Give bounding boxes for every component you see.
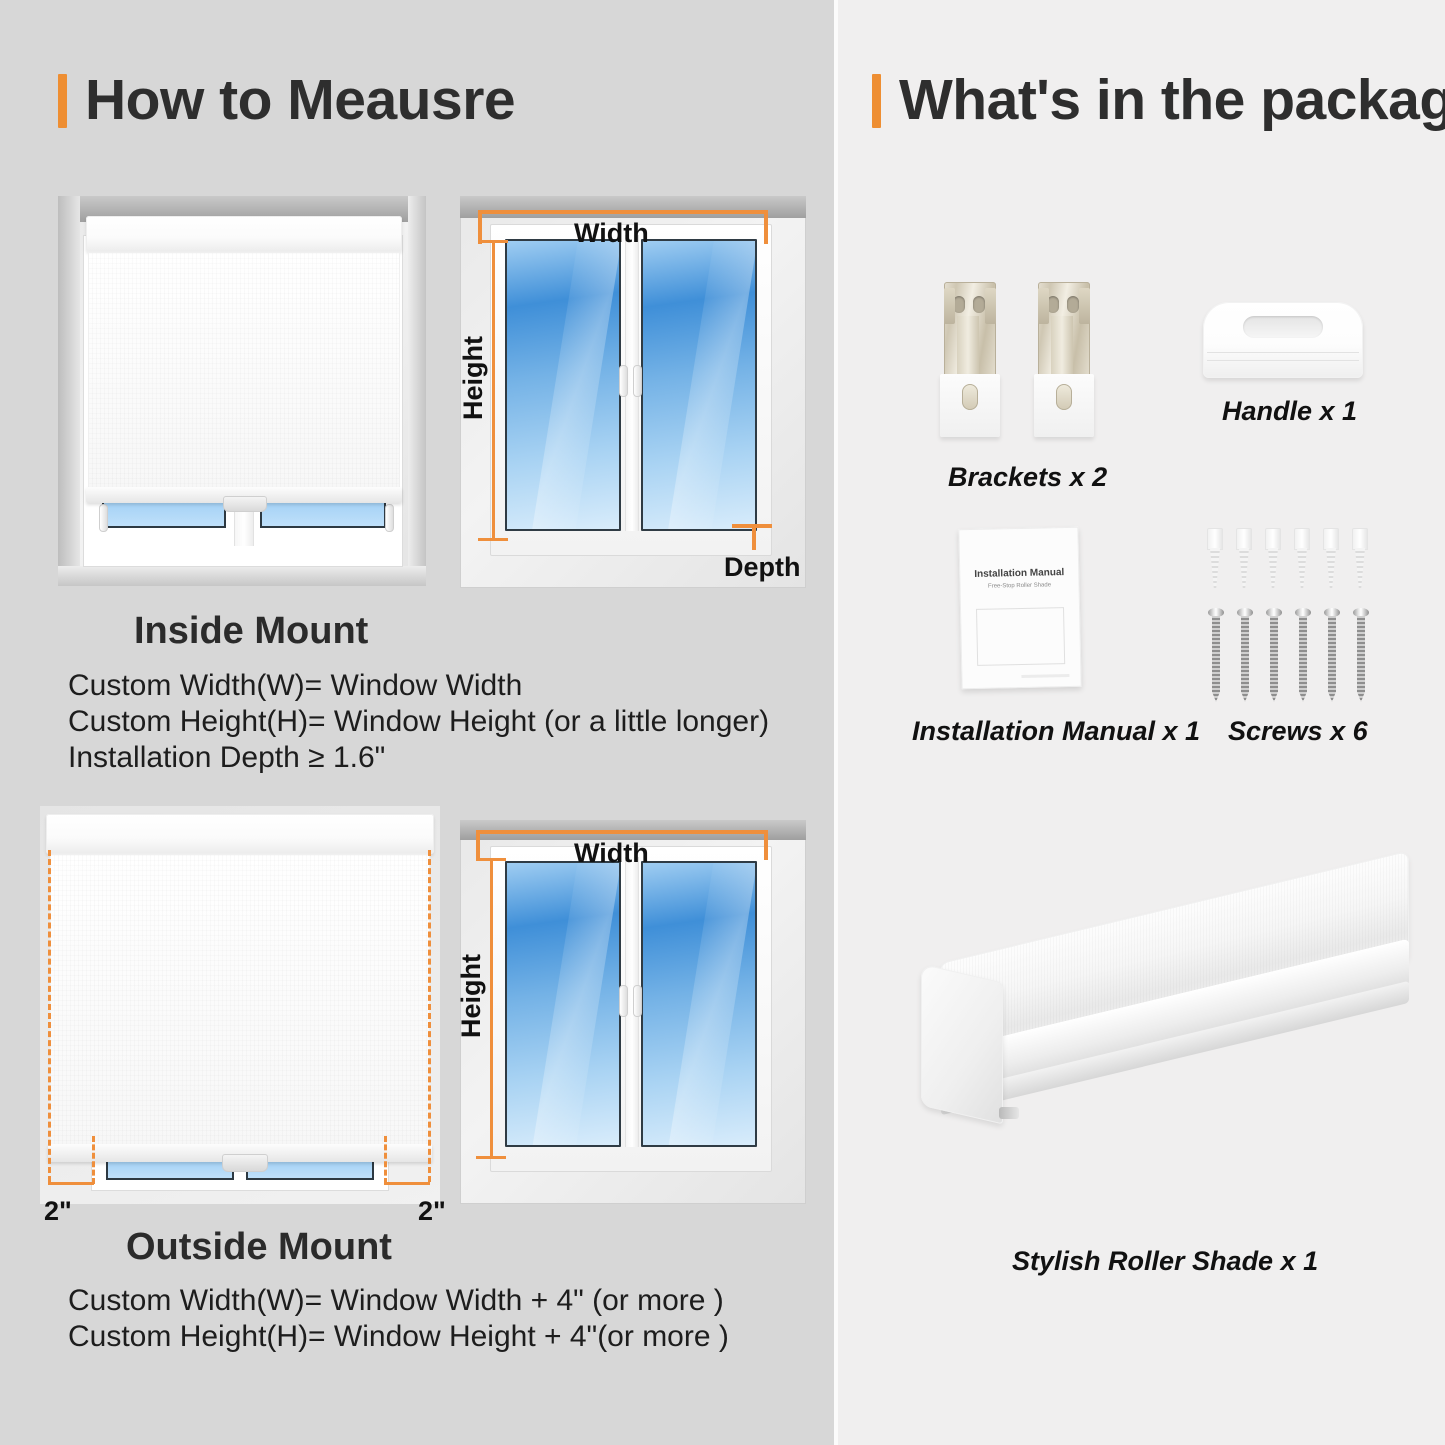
handle-icon: [1203, 302, 1363, 378]
depth-label: Depth: [724, 552, 801, 583]
screw-shaft-5: [1328, 616, 1336, 702]
screw-shaft-3: [1270, 616, 1278, 702]
outside-measure-handle-left: [619, 985, 628, 1017]
outside-shade-fabric: [50, 854, 430, 1146]
mark-height-line: [492, 240, 495, 540]
roller-shade-end-cap: [921, 964, 1003, 1125]
overhang-dash-right: [428, 850, 431, 1182]
anchor-icon-2: [1235, 528, 1253, 588]
screw-icon-2: [1237, 608, 1253, 702]
anchor-icon-1: [1206, 528, 1224, 588]
anchor-icon-6: [1351, 528, 1369, 588]
window-handle-left: [99, 504, 108, 532]
infographic-page: How to Meausre: [0, 0, 1445, 1445]
manual-cover-illustration: [976, 607, 1065, 666]
how-to-measure-heading: How to Meausre: [58, 72, 515, 129]
outside-height-label: Height: [456, 954, 487, 1038]
mark-height-top-tick: [478, 240, 508, 243]
manual-icon: Installation Manual Free-Stop Roller Sha…: [958, 527, 1081, 689]
outside-shade-pull-tab: [222, 1154, 268, 1172]
bracket-tab-right-2: [1079, 288, 1090, 324]
anchor-head-3: [1265, 528, 1281, 550]
shade-pull-tab: [223, 496, 267, 512]
manual-label: Installation Manual x 1: [912, 716, 1200, 747]
screw-shaft-1: [1212, 616, 1220, 702]
overhang-dash-left: [48, 850, 51, 1182]
outside-mount-shade-illustration: [40, 806, 440, 1204]
manual-cover-footer: [1021, 674, 1069, 678]
outside-mark-top-right-vert: [764, 830, 768, 860]
manual-cover-subtitle: Free-Stop Roller Shade: [959, 582, 1079, 591]
shade-headrail: [86, 216, 402, 252]
recess-left-edge: [58, 196, 80, 586]
bracket-mounting-plate: [940, 374, 1000, 437]
anchor-icon-3: [1264, 528, 1282, 588]
overhang-label-right: 2": [418, 1196, 446, 1227]
outside-mount-measure-diagram: Width Height: [460, 820, 806, 1204]
anchor-head-6: [1352, 528, 1368, 550]
bracket-icon: [940, 282, 1000, 437]
roller-shade-icon: [915, 885, 1427, 1215]
shade-fabric: [88, 252, 400, 489]
screw-head-6: [1353, 608, 1369, 617]
roller-shade-label: Stylish Roller Shade x 1: [1012, 1246, 1318, 1277]
handle-slot: [1243, 316, 1323, 338]
inside-mount-measure-diagram: Width Height Depth: [460, 196, 806, 588]
screw-head-5: [1324, 608, 1340, 617]
recess-bottom-edge: [58, 566, 426, 586]
anchor-head-5: [1323, 528, 1339, 550]
measure-recess-top: [460, 196, 806, 218]
bracket-stem: [957, 316, 979, 378]
mark-depth-vert: [752, 524, 756, 550]
wall-anchors-group: [1206, 528, 1376, 592]
outside-shade-headrail: [46, 814, 434, 854]
outside-mount-line-1: Custom Width(W)= Window Width + 4" (or m…: [68, 1284, 724, 1318]
screw-shaft-6: [1357, 616, 1365, 702]
accent-bar-icon: [58, 74, 67, 128]
inside-mount-line-3: Installation Depth ≥ 1.6": [68, 741, 385, 775]
inside-mount-title: Inside Mount: [134, 610, 368, 653]
screws-group: [1208, 608, 1378, 704]
window-edge-dash-left: [92, 1136, 95, 1184]
outside-mark-height-top-tick: [476, 858, 506, 861]
roller-shade-pin: [999, 1107, 1019, 1119]
anchor-icon-5: [1322, 528, 1340, 588]
mark-top-left-vert: [478, 210, 482, 244]
overhang-label-left: 2": [44, 1196, 72, 1227]
screw-head-3: [1266, 608, 1282, 617]
screw-head-2: [1237, 608, 1253, 617]
outside-mount-line-2: Custom Height(H)= Window Height + 4"(or …: [68, 1320, 729, 1354]
anchor-head-4: [1294, 528, 1310, 550]
recess-right-edge: [408, 196, 426, 586]
package-title: What's in the package: [899, 72, 1445, 129]
outside-measure-pane-left: [505, 861, 621, 1147]
screws-label: Screws x 6: [1228, 716, 1368, 747]
mark-height-bottom-tick: [478, 538, 508, 541]
outside-measure-window-frame: [490, 846, 772, 1172]
screw-head-1: [1208, 608, 1224, 617]
outside-mark-height-bottom-tick: [476, 1156, 506, 1159]
height-label: Height: [458, 336, 489, 420]
outside-mount-title: Outside Mount: [126, 1226, 392, 1269]
bracket-mounting-plate-2: [1034, 374, 1094, 437]
screw-shaft-2: [1241, 616, 1249, 702]
mark-top-horizontal: [478, 210, 768, 214]
screw-icon-6: [1353, 608, 1369, 702]
anchor-head-1: [1207, 528, 1223, 550]
overhang-arrow-left: [48, 1182, 94, 1185]
screw-icon-3: [1266, 608, 1282, 702]
anchor-body-3: [1268, 548, 1278, 588]
measure-pane-right: [641, 239, 757, 531]
mark-top-right-vert: [764, 210, 768, 244]
outside-mark-height-line: [490, 858, 493, 1158]
bracket-tab-left: [944, 288, 955, 324]
anchor-body-2: [1239, 548, 1249, 588]
anchor-body-4: [1297, 548, 1307, 588]
inside-mount-line-2: Custom Height(H)= Window Height (or a li…: [68, 705, 769, 739]
handle-ridge-1: [1207, 352, 1359, 353]
bracket-icon-2: [1034, 282, 1094, 437]
inside-mount-shade-illustration: [58, 196, 426, 586]
window-edge-dash-right: [384, 1136, 387, 1184]
screw-icon-5: [1324, 608, 1340, 702]
outside-mark-top-horizontal: [476, 830, 768, 834]
measure-handle-left: [619, 365, 628, 397]
screw-icon-1: [1208, 608, 1224, 702]
bracket-stem-2: [1051, 316, 1073, 378]
bracket-tab-right: [985, 288, 996, 324]
manual-cover-title: Installation Manual: [959, 567, 1079, 581]
how-to-measure-title: How to Meausre: [85, 72, 515, 129]
anchor-icon-4: [1293, 528, 1311, 588]
screw-shaft-4: [1299, 616, 1307, 702]
overhang-arrow-right: [384, 1182, 430, 1185]
window-handle-right: [385, 504, 394, 532]
brackets-label: Brackets x 2: [948, 462, 1107, 493]
accent-bar-icon-right: [872, 74, 881, 128]
anchor-body-5: [1326, 548, 1336, 588]
bracket-tab-left-2: [1038, 288, 1049, 324]
outside-measure-pane-right: [641, 861, 757, 1147]
outside-measure-handle-right: [633, 985, 642, 1017]
anchor-body-6: [1355, 548, 1365, 588]
measure-handle-right: [633, 365, 642, 397]
package-heading: What's in the package: [872, 72, 1445, 129]
anchor-head-2: [1236, 528, 1252, 550]
anchor-body-1: [1210, 548, 1220, 588]
width-label: Width: [574, 218, 649, 249]
measure-window-frame: [490, 224, 772, 556]
inside-mount-line-1: Custom Width(W)= Window Width: [68, 669, 522, 703]
handle-ridge-2: [1207, 360, 1359, 361]
screw-head-4: [1295, 608, 1311, 617]
screw-icon-4: [1295, 608, 1311, 702]
outside-mark-top-left-vert: [476, 830, 480, 860]
measure-pane-left: [505, 239, 621, 531]
outside-width-label: Width: [574, 838, 649, 869]
handle-label: Handle x 1: [1222, 396, 1357, 427]
